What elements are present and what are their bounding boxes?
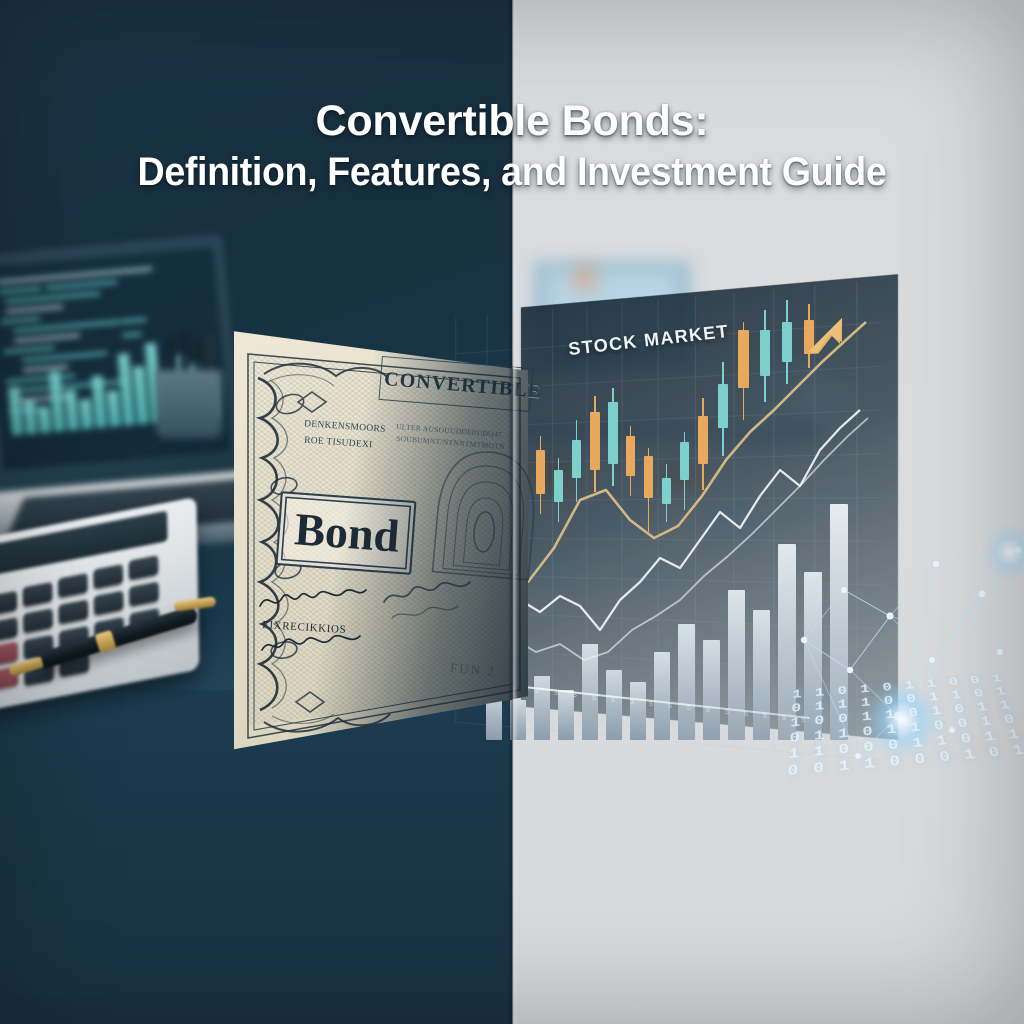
axis-tick-label: 6 [706,707,710,714]
pen-barrel [34,605,200,670]
pen-tip [8,656,44,676]
axis-tick-label: 3 [630,699,634,706]
axis-tick-label: 3 [573,692,577,699]
panel-divider [508,0,518,1024]
up-right-arrow-icon [806,316,846,356]
binary-code-stream: 1 1 0 1 0 1 1 0 0 1 0 1 10 1 1 1 0 0 1 1… [784,672,1024,827]
axis-tick-label: 5 [592,695,596,702]
axis-tick-label: 5 [725,709,729,716]
bond-certificate: CONVERTIBLE DENKENSMOORS ROE TISUDEXI UL… [228,318,528,758]
poster-canvas: 11123333553555656555 STOCK MARKET [0,0,1024,1024]
axis-tick-label: 5 [649,701,653,708]
axis-tick-label: 5 [763,713,767,720]
axis-tick-label: 3 [554,690,558,697]
axis-tick-label: 5 [668,703,672,710]
axis-tick-label: 6 [744,711,748,718]
certificate-fade-into-chart [228,318,528,758]
pen-cup [150,330,228,438]
axis-tick-label: 5 [611,697,615,704]
axis-tick-label: 5 [687,705,691,712]
